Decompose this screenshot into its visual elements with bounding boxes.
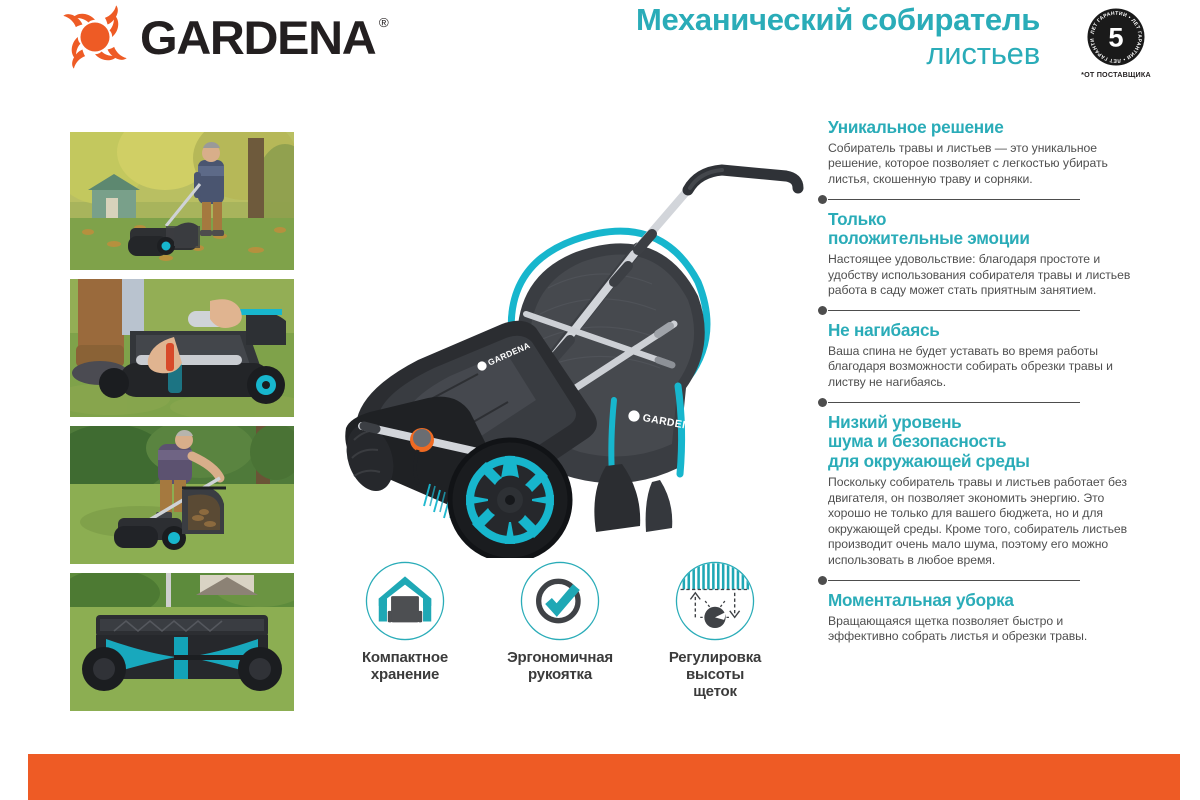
feature-body: Ваша спина не будет уставать во время ра… [828,344,1135,391]
thumbnail-man-emptying-basket[interactable] [70,426,294,564]
feature-title-line2: шума и безопасность [828,431,1006,451]
brand-logo: GARDENA® [62,4,369,70]
feature-divider [828,199,1080,200]
feature-body: Поскольку собиратель травы и листьев раб… [828,475,1135,569]
infographic-page: GARDENA® Механический собиратель листьев… [0,0,1200,800]
leaf-collector-illustration: GARDENA [318,128,818,558]
page-title-line1: Механический собиратель [636,4,1040,36]
icon-label-line2: рукоятка [528,666,592,683]
page-title-line2: листьев [636,38,1040,70]
feature-icon-ergonomic-handle[interactable]: Эргономичная рукоятка [495,560,625,700]
page-title: Механический собиратель листьев [636,4,1040,69]
feature-low-noise-eco: Низкий уровень шума и безопасность для о… [828,413,1140,569]
feature-icon-row: Компактное хранение Эргономичная рукоятк… [340,560,780,700]
thumbnail-man-pushing-collector[interactable] [70,132,294,270]
feature-body: Настоящее удовольствие: благодаря просто… [828,252,1135,299]
icon-label-line2: высоты [686,666,744,683]
feature-title: Не нагибаясь [828,321,1134,341]
garage-storage-icon [364,560,446,642]
icon-label-line1: Компактное [362,649,448,666]
five-year-warranty-seal-icon: ЛЕТ ГАРАНТИИ • ЛЕТ ГАРАНТИИ • ЛЕТ ГАРАНТ… [1085,6,1147,68]
feature-title-line1: Низкий уровень [828,412,961,432]
footer-accent-bar [28,754,1180,800]
check-circle-icon [519,560,601,642]
feature-icon-compact-storage[interactable]: Компактное хранение [340,560,470,700]
icon-label-line1: Регулировка [669,649,761,666]
feature-unique-solution: Уникальное решение Собиратель травы и ли… [828,118,1140,188]
feature-icon-label: Регулировка высоты щеток [650,650,780,700]
feature-title-line1: Только [828,209,886,229]
thumbnail-hands-adjusting-housing[interactable] [70,279,294,417]
feature-title-line2: положительные эмоции [828,228,1030,248]
thumbnail-brush-underside-detail[interactable] [70,573,294,711]
feature-title: Уникальное решение [828,118,1134,138]
product-thumbnail-strip [70,132,294,720]
feature-icon-label: Эргономичная рукоятка [495,650,625,684]
warranty-subtitle: *ОТ ПОСТАВЩИКА [1058,70,1173,79]
feature-list: Уникальное решение Собиратель травы и ли… [828,118,1140,645]
brush-height-adjust-icon [674,560,756,642]
feature-icon-brush-height[interactable]: Регулировка высоты щеток [650,560,780,700]
registered-trademark: ® [379,16,389,29]
feature-divider [828,580,1080,581]
feature-body: Вращающаяся щетка позволяет быстро и эфф… [828,614,1135,645]
brand-name: GARDENA [140,11,375,64]
icon-label-line3: щеток [693,683,737,700]
feature-no-bending: Не нагибаясь Ваша спина не будет устават… [828,321,1140,391]
gardena-sun-flower-icon [62,4,128,70]
feature-icon-label: Компактное хранение [340,650,470,684]
feature-divider [828,402,1080,403]
feature-divider [828,310,1080,311]
feature-title: Низкий уровень шума и безопасность для о… [828,413,1134,472]
svg-text:5: 5 [1108,22,1123,53]
hero-product-image: GARDENA [318,128,818,558]
feature-instant-cleanup: Моментальная уборка Вращающаяся щетка по… [828,591,1140,645]
feature-title-line3: для окружающей среды [828,451,1030,471]
warranty-badge: ЛЕТ ГАРАНТИИ • ЛЕТ ГАРАНТИИ • ЛЕТ ГАРАНТ… [1056,6,1176,79]
feature-positive-emotions: Только положительные эмоции Настоящее уд… [828,210,1140,299]
feature-title: Моментальная уборка [828,591,1134,611]
feature-body: Собиратель травы и листьев — это уникаль… [828,141,1135,188]
feature-title: Только положительные эмоции [828,210,1134,250]
brand-wordmark: GARDENA® [140,14,375,61]
icon-label-line1: Эргономичная [507,649,613,666]
icon-label-line2: хранение [371,666,439,683]
page-header: GARDENA® Механический собиратель листьев… [0,0,1200,92]
